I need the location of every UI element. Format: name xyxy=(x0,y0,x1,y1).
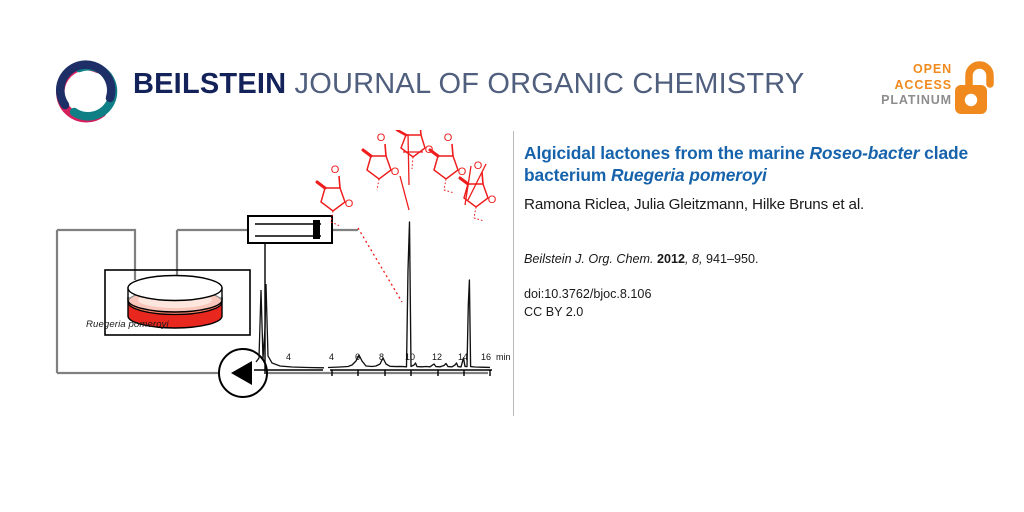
gamma-butyrolactone-2: O O xyxy=(363,132,400,190)
butenolide-3: O xyxy=(397,130,434,169)
axis-tick-label-2: 8 xyxy=(379,352,384,362)
organism-label: Ruegeria pomeroyi xyxy=(86,319,169,330)
article-title-text-a: Algicidal lactones from the marine xyxy=(524,143,809,163)
article-title-genus-1: Roseo- xyxy=(809,143,867,163)
article-license[interactable]: CC BY 2.0 xyxy=(524,304,651,322)
journal-title-light: JOURNAL OF ORGANIC CHEMISTRY xyxy=(286,68,804,100)
column-divider xyxy=(513,131,514,416)
axis-tick-label-5: 14 xyxy=(458,352,468,362)
gamma-butyrolactone-4: O O xyxy=(430,132,467,193)
page-header: BEILSTEIN JOURNAL OF ORGANIC CHEMISTRY O… xyxy=(0,0,1024,140)
svg-text:O: O xyxy=(488,194,497,206)
article-authors: Ramona Riclea, Julia Gleitzmann, Hilke B… xyxy=(524,195,974,214)
axis-unit-label: min xyxy=(496,352,511,362)
axis-tick-label-0: 4 xyxy=(329,352,334,362)
article-doi[interactable]: doi:10.3762/bjoc.8.106 xyxy=(524,286,651,304)
pump-circle-triangle-icon xyxy=(219,349,267,397)
citation-year: 2012 xyxy=(657,252,685,266)
inset-tick-label-0: 4 xyxy=(286,352,291,362)
article-title-genus-1b: bacter xyxy=(868,143,920,163)
article-info: Algicidal lactones from the marine Roseo… xyxy=(524,143,974,214)
open-access-line-access: ACCESS xyxy=(881,78,952,94)
svg-text:O: O xyxy=(474,160,483,172)
beilstein-circles-logo xyxy=(52,57,126,125)
open-access-line-open: OPEN xyxy=(881,62,952,78)
sampling-trap-icon xyxy=(248,216,332,243)
svg-text:O: O xyxy=(331,164,340,176)
svg-text:O: O xyxy=(458,166,467,178)
graphical-abstract: O O O O xyxy=(40,130,500,415)
doi-license-block: doi:10.3762/bjoc.8.106 CC BY 2.0 xyxy=(524,286,651,321)
journal-title: BEILSTEIN JOURNAL OF ORGANIC CHEMISTRY xyxy=(133,68,804,100)
citation-pages: 941–950. xyxy=(703,252,759,266)
poster-page: BEILSTEIN JOURNAL OF ORGANIC CHEMISTRY O… xyxy=(0,0,1024,512)
page-title: Algicidal lactones from the marine Roseo… xyxy=(524,143,974,186)
structure-leader-lines xyxy=(358,134,486,302)
journal-title-bold: BEILSTEIN xyxy=(133,68,286,100)
svg-text:O: O xyxy=(377,132,386,144)
axis-tick-label-3: 10 xyxy=(405,352,415,362)
svg-text:O: O xyxy=(345,198,354,210)
open-access-line-platinum: PLATINUM xyxy=(881,93,952,109)
svg-text:O: O xyxy=(444,132,453,144)
axis-tick-label-4: 12 xyxy=(432,352,442,362)
tubing-loop xyxy=(57,230,488,373)
axis-tick-label-6: 16 xyxy=(481,352,491,362)
open-access-text: OPEN ACCESS PLATINUM xyxy=(881,62,952,109)
article-citation: Beilstein J. Org. Chem. 2012, 8, 941–950… xyxy=(524,251,759,267)
open-access-badge: OPEN ACCESS PLATINUM xyxy=(884,60,992,118)
open-padlock-icon xyxy=(952,60,996,116)
citation-journal: Beilstein J. Org. Chem. xyxy=(524,252,657,266)
article-title-genus-2: Ruegeria pomeroyi xyxy=(611,165,767,185)
svg-text:O: O xyxy=(391,166,400,178)
axis-tick-label-1: 6 xyxy=(355,352,360,362)
citation-volume: , 8, xyxy=(685,252,703,266)
